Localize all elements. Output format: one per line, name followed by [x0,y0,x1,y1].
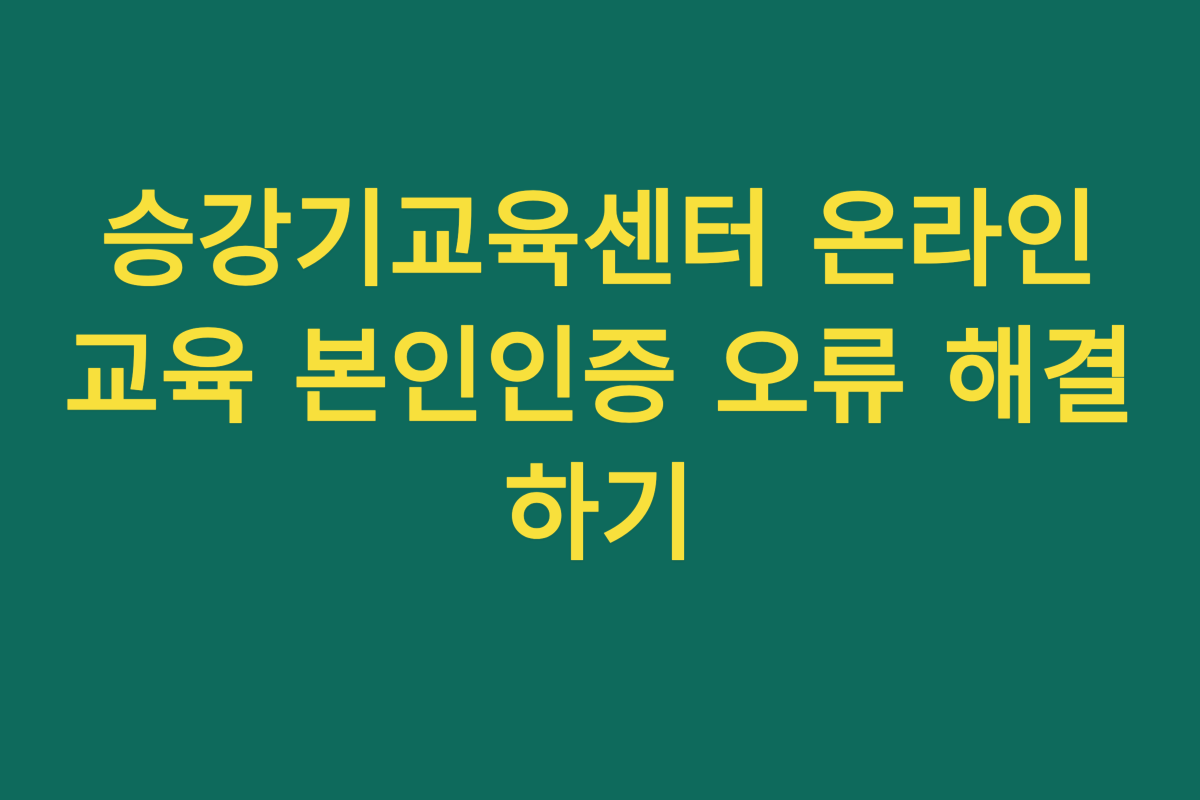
title-line-2: 교육 본인인증 오류 해결 [55,309,1145,446]
thumbnail-card: 승강기교육센터 온라인 교육 본인인증 오류 해결 하기 [0,0,1200,800]
page-title: 승강기교육센터 온라인 교육 본인인증 오류 해결 하기 [55,172,1145,583]
title-line-1: 승강기교육센터 온라인 [55,172,1145,309]
title-line-3: 하기 [55,446,1145,583]
